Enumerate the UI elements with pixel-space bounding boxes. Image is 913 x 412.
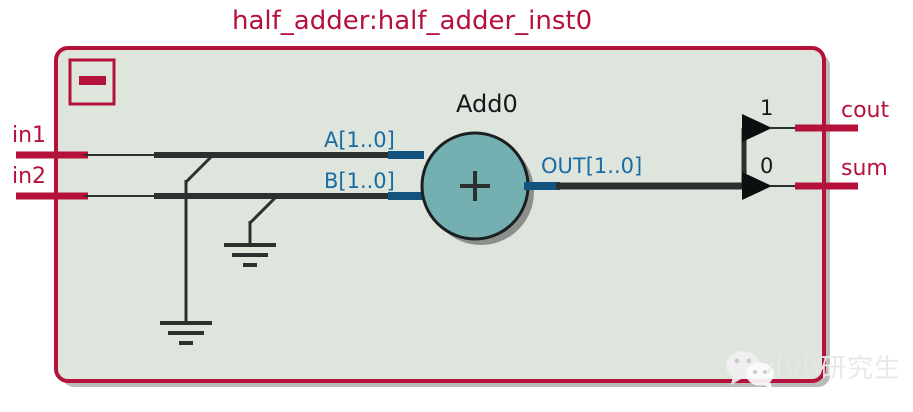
watermark-text: 小小研究生: [766, 356, 901, 382]
schematic-canvas: half_adder:half_adder_inst0: [0, 0, 913, 412]
adder-out-label: OUT[1..0]: [541, 156, 642, 177]
input-label-in2: in2: [12, 166, 46, 188]
schematic-graphics: [0, 0, 913, 412]
adder-port-label-b: B[1..0]: [324, 171, 395, 192]
output-label-sum: sum: [841, 158, 888, 180]
input-label-in1: in1: [12, 125, 46, 147]
output-label-cout: cout: [841, 100, 889, 122]
bit-index-label-0: 0: [760, 156, 773, 177]
adder-port-label-a: A[1..0]: [324, 130, 395, 151]
adder-label: Add0: [456, 92, 518, 116]
bit-index-label-1: 1: [760, 98, 773, 119]
